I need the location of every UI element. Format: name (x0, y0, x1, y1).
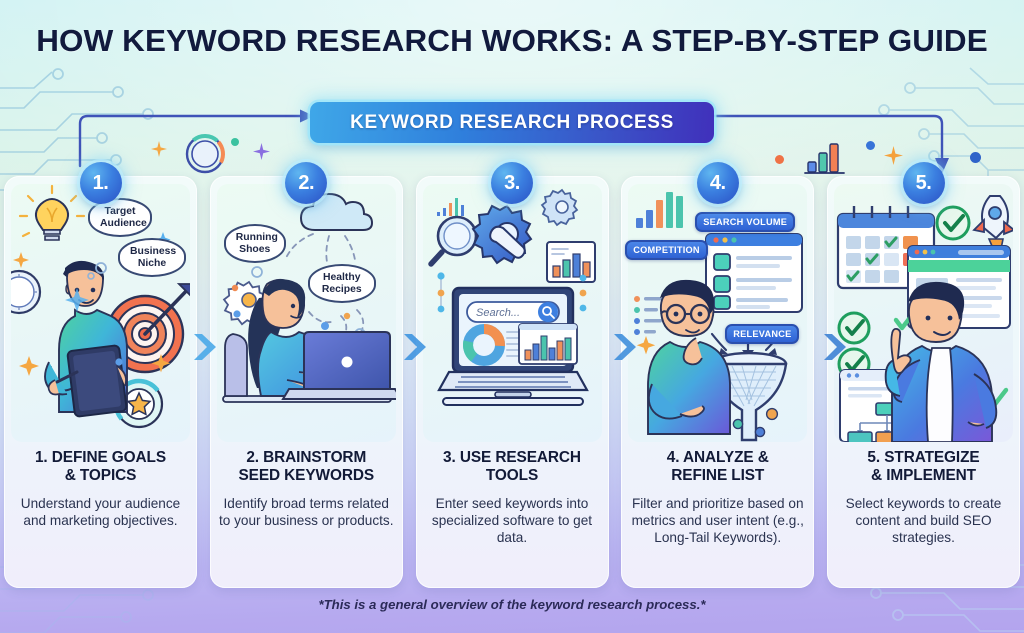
decor-dot (231, 138, 239, 146)
speech-bubble-label: Business Niche (130, 246, 176, 269)
speech-bubble: Business Niche (118, 238, 186, 277)
heading-line: 2. BRAINSTORM (218, 449, 395, 467)
heading-line: & IMPLEMENT (835, 467, 1012, 485)
speech-bubble-label: Target Audience (100, 206, 147, 229)
step-number: 2. (298, 172, 314, 195)
step-illustration-2 (217, 184, 396, 442)
step-body-4: Filter and prioritize based on metrics a… (628, 496, 807, 547)
infographic-canvas: HOW KEYWORD RESEARCH WORKS: A STEP-BY-ST… (0, 0, 1024, 633)
chevron-right-icon (612, 330, 638, 364)
step-heading-3: 3. USE RESEARCH TOOLS (424, 449, 601, 485)
step-card-2[interactable]: 2. (210, 176, 403, 588)
footnote: *This is a general overview of the keywo… (0, 597, 1024, 612)
tag-label: SEARCH VOLUME (703, 217, 787, 227)
connector-left (76, 108, 326, 170)
sparkle-icon (253, 143, 270, 160)
sparkle-icon (884, 146, 903, 165)
step-heading-4: 4. ANALYZE & REFINE LIST (629, 449, 806, 485)
tag-label: COMPETITION (633, 245, 700, 255)
step-badge-4: 4. (697, 162, 739, 204)
step-badge-3: 3. (491, 162, 533, 204)
step-badge-1: 1. (80, 162, 122, 204)
heading-line: SEED KEYWORDS (218, 467, 395, 485)
speech-bubble: Running Shoes (224, 224, 286, 263)
step-heading-5: 5. STRATEGIZE & IMPLEMENT (835, 449, 1012, 485)
step-body-3: Enter seed keywords into specialized sof… (423, 496, 602, 547)
step-badge-5: 5. (903, 162, 945, 204)
step-card-1[interactable]: 1. (4, 176, 197, 588)
step-heading-1: 1. DEFINE GOALS & TOPICS (12, 449, 189, 485)
step-card-4[interactable]: 4. (621, 176, 814, 588)
decor-dot (775, 155, 784, 164)
heading-line: REFINE LIST (629, 467, 806, 485)
step-number: 3. (504, 172, 520, 195)
heading-line: TOOLS (424, 467, 601, 485)
heading-line: 4. ANALYZE & (629, 449, 806, 467)
search-placeholder-text: Search... (476, 307, 520, 319)
process-banner-label: KEYWORD RESEARCH PROCESS (350, 112, 674, 134)
steps-row: 1. (0, 176, 1024, 588)
tag-relevance: RELEVANCE (725, 324, 799, 344)
step-body-5: Select keywords to create content and bu… (834, 496, 1013, 547)
heading-line: & TOPICS (12, 467, 189, 485)
page-title: HOW KEYWORD RESEARCH WORKS: A STEP-BY-ST… (0, 24, 1024, 59)
tag-label: RELEVANCE (733, 329, 791, 339)
chevron-right-icon (822, 330, 848, 364)
step-card-5[interactable]: 5. (827, 176, 1020, 588)
step-illustration-3: Search... (423, 184, 602, 442)
tag-competition: COMPETITION (625, 240, 708, 260)
speech-bubble-label: Healthy Recipes (322, 272, 362, 295)
sparkle-icon (151, 141, 167, 157)
step-body-1: Understand your audience and marketing o… (11, 496, 190, 530)
tag-search-volume: SEARCH VOLUME (695, 212, 795, 232)
decor-dot (866, 141, 875, 150)
step-card-3[interactable]: 3. (416, 176, 609, 588)
step-number: 4. (710, 172, 726, 195)
step-illustration-5 (834, 184, 1013, 442)
bar-chart-icon (804, 141, 846, 175)
heading-line: 3. USE RESEARCH (424, 449, 601, 467)
speech-bubble-label: Running Shoes (236, 232, 278, 255)
step-badge-2: 2. (285, 162, 327, 204)
compass-icon (185, 134, 225, 174)
process-banner: KEYWORD RESEARCH PROCESS (310, 102, 714, 143)
step-number: 1. (93, 172, 109, 195)
heading-line: 5. STRATEGIZE (835, 449, 1012, 467)
step-number: 5. (916, 172, 932, 195)
decor-dot (970, 152, 981, 163)
step-heading-2: 2. BRAINSTORM SEED KEYWORDS (218, 449, 395, 485)
step-body-2: Identify broad terms related to your bus… (217, 496, 396, 530)
heading-line: 1. DEFINE GOALS (12, 449, 189, 467)
chevron-right-icon (192, 330, 218, 364)
chevron-right-icon (402, 330, 428, 364)
speech-bubble: Healthy Recipes (308, 264, 376, 303)
